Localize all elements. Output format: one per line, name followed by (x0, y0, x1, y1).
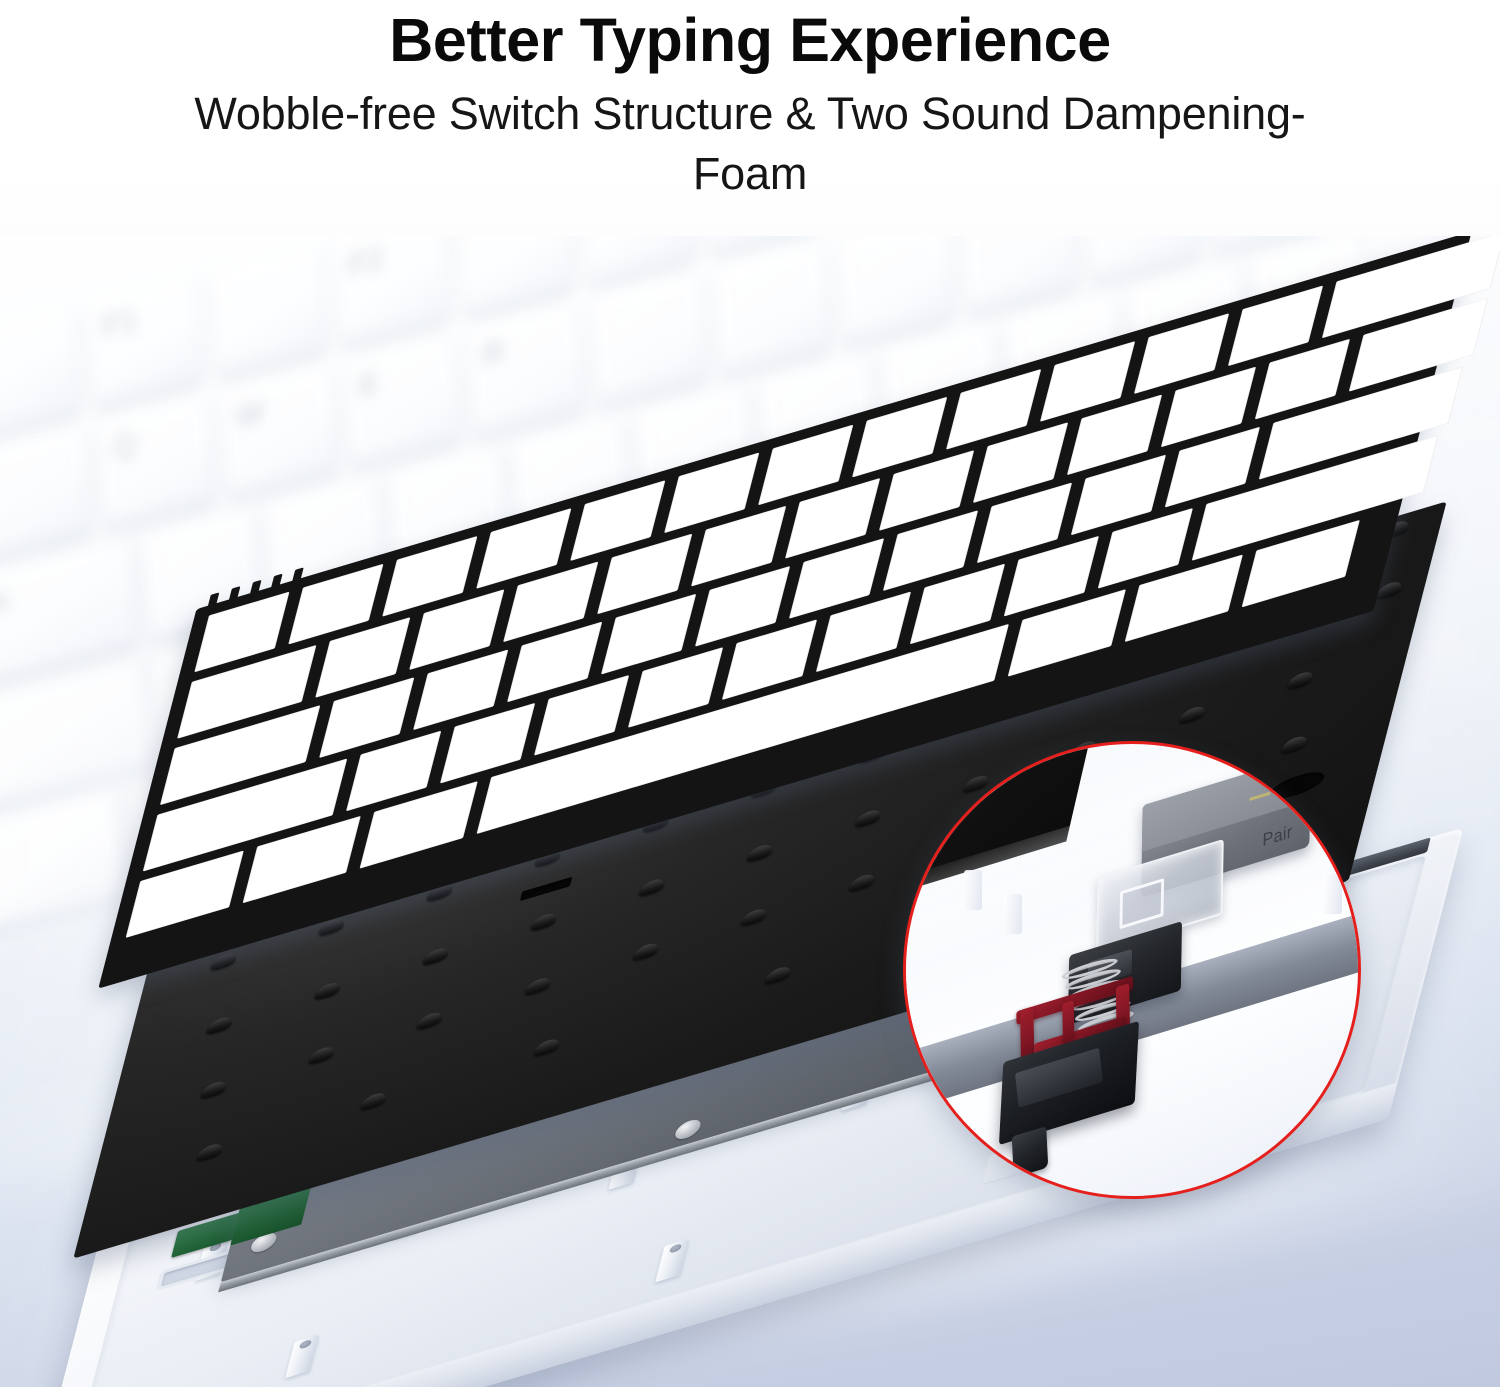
foam-boss (740, 906, 768, 927)
foam-boss (530, 911, 558, 932)
product-feature-image: F1 F2 Q W E R (0, 0, 1500, 1387)
foam-boss (854, 807, 882, 828)
switch-cutout-ctrl (126, 850, 244, 938)
header-block: Better Typing Experience Wobble-free Swi… (0, 0, 1500, 236)
foam-boss (359, 1090, 387, 1111)
inset-standoff-post (1004, 894, 1022, 934)
inset-standoff-post (964, 870, 982, 910)
foam-boss (638, 877, 666, 898)
foam-boss (199, 1079, 227, 1100)
foam-boss (416, 1010, 444, 1031)
foam-slot-cutout (520, 877, 572, 901)
foam-boss (205, 1015, 233, 1036)
foam-boss (1178, 704, 1206, 725)
inset-standoff-post (1324, 874, 1342, 914)
switch-detail-circle-inset: Pair (903, 741, 1361, 1199)
page-title: Better Typing Experience (0, 6, 1500, 74)
foam-boss (746, 842, 774, 863)
foam-boss (524, 975, 552, 996)
foam-boss (848, 872, 876, 893)
page-subtitle: Wobble-free Switch Structure & Two Sound… (0, 84, 1500, 203)
foam-boss (1280, 734, 1308, 755)
foam-boss (764, 964, 792, 985)
foam-boss (533, 1037, 561, 1058)
foam-boss (632, 941, 660, 962)
foam-boss (313, 980, 341, 1001)
foam-boss (1286, 669, 1314, 690)
foam-boss (196, 1141, 224, 1162)
mounting-screw (673, 1117, 702, 1142)
foam-boss (307, 1044, 335, 1065)
keycap-legend: Pair (1262, 821, 1292, 851)
switch-part-contact-pin (1012, 1126, 1049, 1178)
foam-boss (422, 946, 450, 967)
